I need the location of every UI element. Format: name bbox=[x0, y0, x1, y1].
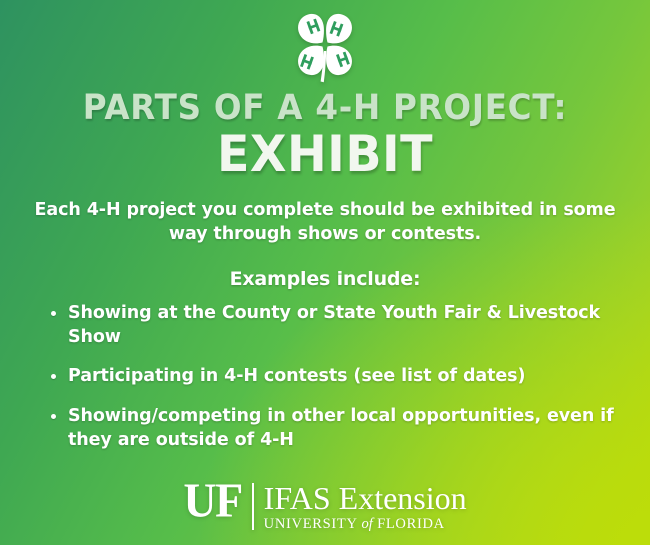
logo-divider bbox=[252, 483, 254, 530]
page-title-line1: PARTS OF A 4-H PROJECT: bbox=[23, 90, 628, 126]
examples-heading: Examples include: bbox=[0, 268, 650, 290]
4h-clover-icon bbox=[289, 7, 361, 85]
examples-list: Showing at the County or State Youth Fai… bbox=[46, 302, 626, 468]
university-word: UNIVERSITY bbox=[264, 516, 357, 532]
uf-monogram: UF bbox=[183, 479, 251, 524]
title-block: PARTS OF A 4-H PROJECT: EXHIBIT bbox=[0, 90, 650, 181]
intro-paragraph: Each 4-H project you complete should be … bbox=[25, 198, 625, 246]
poster-canvas: PARTS OF A 4-H PROJECT: EXHIBIT Each 4-H… bbox=[0, 0, 650, 545]
extension-word: Extension bbox=[339, 480, 467, 516]
university-of-florida-line: UNIVERSITY of FLORIDA bbox=[264, 517, 467, 533]
uf-ifas-extension-logo: UF IFAS Extension UNIVERSITY of FLORIDA bbox=[0, 481, 650, 533]
florida-word: FLORIDA bbox=[377, 516, 445, 532]
ifas-extension-line: IFAS Extension bbox=[264, 482, 467, 514]
ifas-word: IFAS bbox=[264, 480, 331, 516]
of-word: of bbox=[361, 516, 372, 532]
clover-logo-container bbox=[0, 7, 650, 85]
logo-text-block: IFAS Extension UNIVERSITY of FLORIDA bbox=[264, 481, 467, 533]
page-title-line2: EXHIBIT bbox=[16, 128, 634, 181]
list-item: Showing at the County or State Youth Fai… bbox=[46, 302, 626, 349]
list-item: Participating in 4-H contests (see list … bbox=[46, 365, 626, 389]
list-item: Showing/competing in other local opportu… bbox=[46, 405, 626, 452]
